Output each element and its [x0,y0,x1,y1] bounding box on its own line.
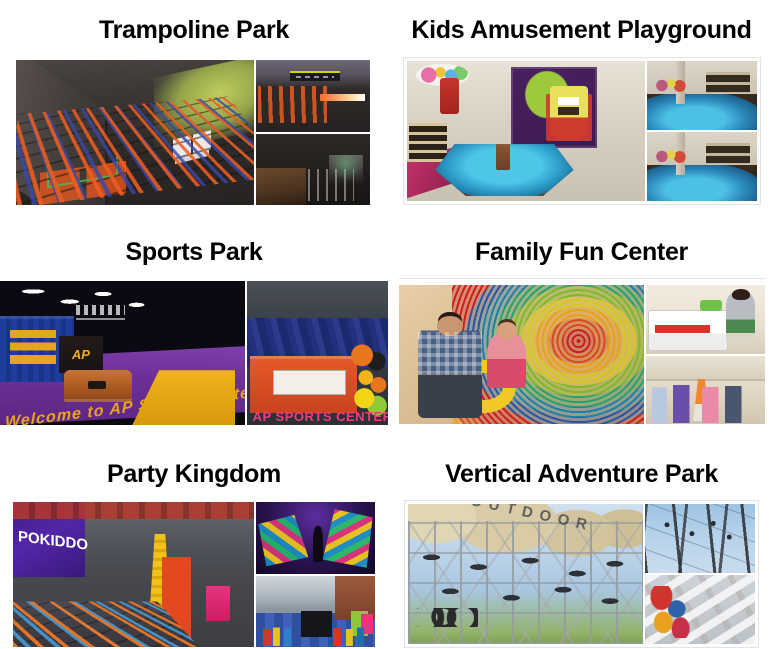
image-kids-playground-thumb-top[interactable] [647,61,756,130]
collage-sports-park[interactable]: AP Welcome to AP Sports Center AP SPORTS… [0,281,388,425]
adult-pushing-swing [418,316,482,419]
red-ceiling-beams [13,502,254,519]
scene-party-event-stage [256,576,375,648]
collage-side-vertical-adventure [643,504,755,644]
collage-family-fun-center[interactable] [399,278,765,424]
balloon-arch [351,342,388,417]
scene-trampoline-arena-overhead [16,60,254,205]
green-safety-net [47,152,118,188]
image-party-kingdom-thumb-bottom[interactable] [256,574,375,648]
scene-neon-ninja-course [256,502,375,574]
child-on-swing [487,332,526,388]
sports-center-sign [76,305,125,319]
ap-sports-center-floor-text: AP SPORTS CENTER [253,409,388,424]
image-trampoline-park-main[interactable] [16,60,254,205]
red-ball-obstacles [162,557,191,638]
image-vertical-adventure-thumb-bottom[interactable] [645,573,755,644]
panel-family-fun-center[interactable]: Family Fun Center [388,225,775,450]
mascot-characters [258,624,372,645]
scene-kids-play-room [646,356,765,425]
panel-vertical-adventure-park[interactable]: Vertical Adventure Park OUTDOOR [388,450,775,649]
panel-title-vertical-adventure-park: Vertical Adventure Park [445,462,718,487]
collage-side-party-kingdom [254,502,375,647]
collage-side-sports-park: AP SPORTS CENTER [245,281,388,425]
toddler-at-kitchen [726,293,755,344]
pink-banner [206,586,230,621]
green-toy [700,300,721,311]
hexagonal-ball-pool [435,139,573,198]
trampoline-pads [40,161,126,205]
product-category-grid: Trampoline Park [0,0,775,649]
image-family-fun-center-main[interactable] [399,285,644,424]
scene-trampoline-interior [256,60,370,132]
image-trampoline-park-thumb-bottom[interactable] [256,132,370,206]
image-family-fun-center-thumb-top[interactable] [646,285,765,354]
image-kids-playground-main[interactable] [407,61,646,201]
red-hanging-decor [440,78,459,114]
image-party-kingdom-main[interactable]: POKIDDO [13,502,254,647]
storage-shelf [409,123,447,162]
scene-toy-kitchen-roleplay [646,285,765,354]
scene-sports-park-render: AP Welcome to AP Sports Center [0,281,245,425]
panel-title-kids-amusement-playground: Kids Amusement Playground [411,18,751,43]
panel-title-family-fun-center: Family Fun Center [475,240,688,265]
scene-outdoor-ropes-course: OUTDOOR [408,504,643,644]
reception-counter [64,370,133,402]
panel-sports-park[interactable]: Sports Park AP Welcome to AP Sports Cent… [0,225,388,450]
collage-side-kids-playground [645,61,756,201]
collage-kids-amusement-playground[interactable] [403,57,761,205]
image-sports-park-main[interactable]: AP Welcome to AP Sports Center [0,281,245,425]
image-vertical-adventure-thumb-top[interactable] [645,504,755,573]
mascot-wall-graphic [550,86,588,136]
bar-stools [308,169,354,200]
panel-kids-amusement-playground[interactable]: Kids Amusement Playground [388,0,775,225]
panel-title-party-kingdom: Party Kingdom [107,462,281,487]
overhead-sign [290,71,340,81]
scene-kids-pool-angle-b [647,132,756,201]
scene-trampoline-lounge [256,134,370,206]
scene-rainbow-net-play [399,285,644,424]
group-of-children [650,380,759,422]
image-vertical-adventure-main[interactable]: OUTDOOR [408,504,643,644]
white-mats [173,131,211,159]
arena-wall [16,60,106,205]
themed-shelving [706,143,750,164]
panel-title-sports-park: Sports Park [125,240,262,265]
panel-party-kingdom[interactable]: Party Kingdom POKIDDO [0,450,388,649]
ap-wall-logo: AP [59,336,103,373]
collage-vertical-adventure-park[interactable]: OUTDOOR [404,500,759,648]
scene-pokiddo-trampoline-hall: POKIDDO [13,502,254,647]
image-family-fun-center-thumb-bottom[interactable] [646,354,765,425]
collage-party-kingdom[interactable]: POKIDDO [13,502,375,647]
pokiddo-wall-logo: POKIDDO [18,521,81,561]
image-kids-playground-thumb-bottom[interactable] [647,130,756,201]
image-trampoline-park-thumb-top[interactable] [256,60,370,132]
collage-side-trampoline-park [254,60,370,205]
panel-trampoline-park[interactable]: Trampoline Park [0,0,388,225]
support-column [676,61,686,104]
scene-ap-sports-center-photo: AP SPORTS CENTER [247,281,388,425]
scene-kids-ball-pool-hall [407,61,646,201]
collage-trampoline-park[interactable] [16,60,372,205]
scene-ropes-towers-sky [645,504,755,573]
scene-climbers-on-beams [645,575,755,644]
themed-shelving [706,72,750,93]
image-party-kingdom-thumb-top[interactable] [256,502,375,574]
orange-meet-room-container [250,356,357,414]
support-column [676,132,686,175]
image-sports-park-side[interactable]: AP SPORTS CENTER [247,281,388,425]
hanging-tyres [417,608,478,628]
scene-kids-pool-angle-a [647,61,756,130]
panel-title-trampoline-park: Trampoline Park [99,18,289,43]
climber-silhouette [313,526,323,562]
collage-side-family-fun-center [644,285,765,424]
